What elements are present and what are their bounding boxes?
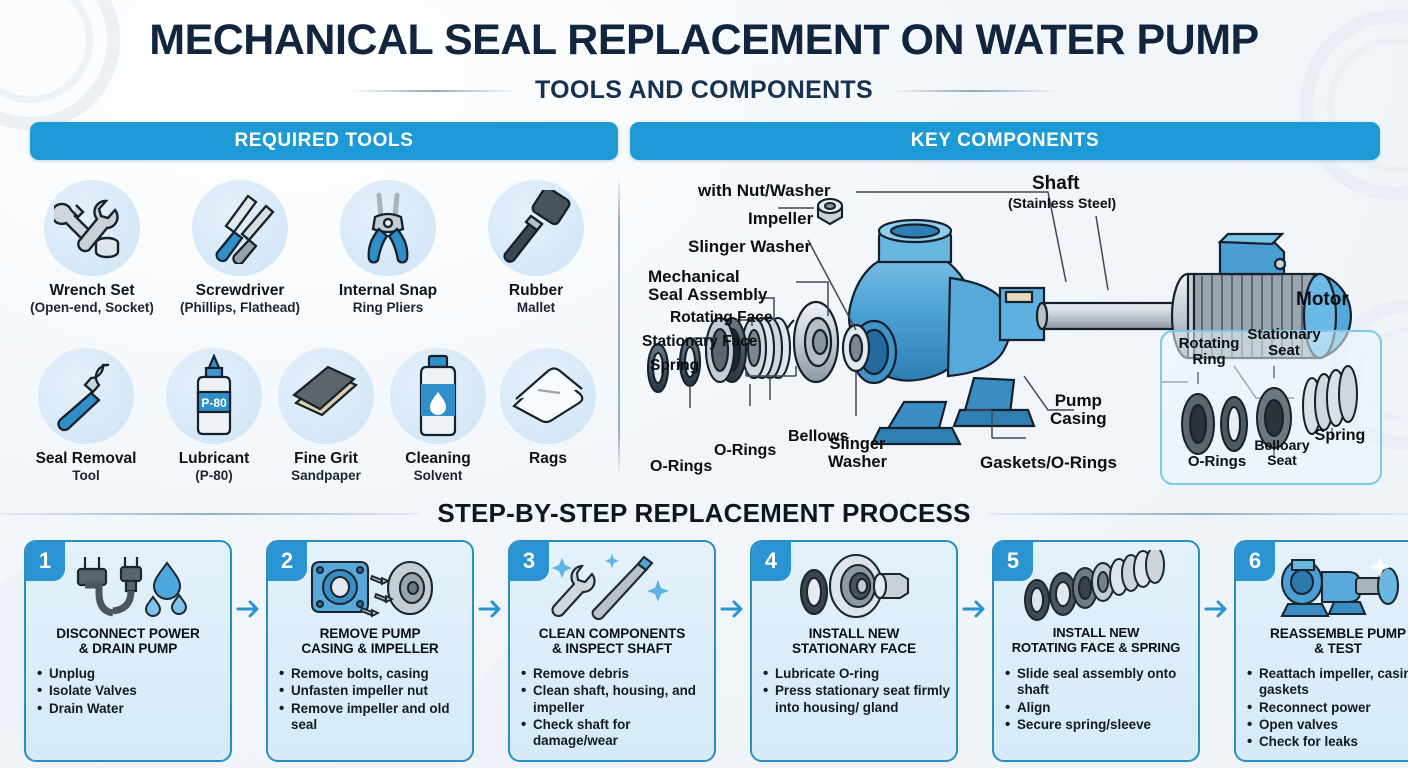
tool-sublabel: Tool [22, 468, 150, 483]
step-bullet: Check shaft for damage/wear [520, 717, 708, 750]
lubricant-bottle-text: P-80 [201, 396, 227, 410]
tool-rubber-mallet: Rubber Mallet [472, 180, 600, 315]
shaft-label: Shaft [1032, 174, 1080, 195]
step-bullet: Isolate Valves [36, 683, 224, 699]
tool-icon-circle [278, 348, 374, 444]
gaskets-o-rings-label: Gaskets/O-Rings [980, 454, 1117, 472]
tool-sublabel: (Open-end, Socket) [28, 300, 156, 315]
seal-removal-tool-icon [38, 348, 134, 444]
impeller-label: Impeller [748, 210, 813, 228]
step-card-4[interactable]: 4 INSTALL NEW STATIONARY FACE Lubricate … [750, 540, 958, 762]
tool-sublabel: (P-80) [150, 468, 278, 483]
tool-label: Lubricant [150, 450, 278, 467]
tool-sublabel: Solvent [374, 468, 502, 483]
tool-label: Seal Removal [22, 450, 150, 467]
spring-label: Spring [650, 358, 699, 375]
tool-sublabel: Mallet [472, 300, 600, 315]
steps-divider-right [989, 513, 1408, 515]
step-title: REMOVE PUMP CASING & IMPELLER [274, 626, 466, 656]
tool-sublabel: Ring Pliers [324, 300, 452, 315]
slinger-washer-label-2: Slinger Washer [828, 436, 887, 472]
step-title: DISCONNECT POWER & DRAIN PUMP [32, 626, 224, 656]
assembled-pump-icon [1236, 548, 1408, 624]
tool-label: Fine Grit [262, 450, 390, 467]
stationary-face-seat-icon [752, 548, 956, 624]
step-bullet: Remove debris [520, 666, 708, 682]
steps-title: STEP-BY-STEP REPLACEMENT PROCESS [437, 498, 970, 529]
step-bullet: Remove bolts, casing [278, 666, 466, 682]
tool-seal-removal-tool: Seal Removal Tool [22, 348, 150, 483]
divider-left [349, 90, 519, 92]
tool-icon-circle [44, 180, 140, 276]
lubricant-bottle-icon: P-80 [166, 348, 262, 444]
step-bullet: Open valves [1246, 717, 1408, 733]
step-bullet: Align [1004, 700, 1192, 716]
wrench-set-icon [44, 180, 140, 276]
step-bullet: Slide seal assembly onto shaft [1004, 666, 1192, 699]
step-arrow-5-6 [1204, 598, 1230, 620]
step-bullet: Remove impeller and old seal [278, 701, 466, 734]
section-header-required-tools: REQUIRED TOOLS [30, 122, 618, 160]
rotating-face-spring-icon [994, 548, 1198, 624]
inset-stationary-seat-label: Stationary Seat [1234, 327, 1334, 359]
tool-icon-circle [390, 348, 486, 444]
tool-icon-circle [192, 180, 288, 276]
step-arrow-4-5 [962, 598, 988, 620]
tool-icon-circle [38, 348, 134, 444]
sandpaper-icon [278, 348, 374, 444]
tool-snap-ring-pliers: Internal Snap Ring Pliers [324, 180, 452, 315]
step-title: INSTALL NEW STATIONARY FACE [758, 626, 950, 656]
step-bullet: Drain Water [36, 701, 224, 717]
section-header-key-components: KEY COMPONENTS [630, 122, 1380, 160]
subtitle-row: TOOLS AND COMPONENTS [0, 76, 1408, 105]
step-bullet: Press stationary seat firmly into housin… [762, 683, 950, 716]
step-bullet: Reconnect power [1246, 700, 1408, 716]
step-arrow-1-2 [236, 598, 262, 620]
mechanical-seal-assembly-label: Mechanical Seal Assembly [648, 268, 767, 305]
step-bullet: Check for leaks [1246, 734, 1408, 750]
step-bullet-list: Remove debris Clean shaft, housing, and … [520, 666, 708, 751]
step-arrow-3-4 [720, 598, 746, 620]
tool-label: Cleaning [374, 450, 502, 467]
vertical-divider [618, 176, 620, 476]
tool-label: Internal Snap [324, 282, 452, 299]
step-bullet: Reattach impeller, casing, gaskets [1246, 666, 1408, 699]
pump-casing-impeller-icon [268, 548, 472, 624]
divider-right [889, 90, 1059, 92]
inset-spring-label: Spring [1304, 428, 1376, 445]
screwdriver-icon [192, 180, 288, 276]
tool-sublabel: Sandpaper [262, 468, 390, 483]
step-card-2[interactable]: 2 REMOVE PUMP C [266, 540, 474, 762]
tool-cleaning-solvent: Cleaning Solvent [374, 348, 502, 483]
rotating-face-label: Rotating Face [670, 310, 772, 327]
tool-label: Rubber [472, 282, 600, 299]
with-nut-washer-label: with Nut/Washer [698, 182, 831, 200]
rubber-mallet-icon [488, 180, 584, 276]
step-bullet: Clean shaft, housing, and impeller [520, 683, 708, 716]
rags-icon [500, 348, 596, 444]
steps-divider-left [0, 513, 419, 515]
page-title: MECHANICAL SEAL REPLACEMENT ON WATER PUM… [0, 16, 1408, 65]
step-title: CLEAN COMPONENTS & INSPECT SHAFT [516, 626, 708, 656]
step-bullet-list: Unplug Isolate Valves Drain Water [36, 666, 224, 718]
tool-icon-circle [488, 180, 584, 276]
tool-icon-circle [340, 180, 436, 276]
step-arrow-2-3 [478, 598, 504, 620]
step-bullet: Lubricate O-ring [762, 666, 950, 682]
stationary-face-label: Stationary Face [642, 334, 757, 351]
tool-label: Screwdriver [176, 282, 304, 299]
infographic-root: MECHANICAL SEAL REPLACEMENT ON WATER PUM… [0, 0, 1408, 768]
cleaning-tools-icon [510, 548, 714, 624]
step-bullet-list: Lubricate O-ring Press stationary seat f… [762, 666, 950, 717]
step-bullet: Unplug [36, 666, 224, 682]
tool-sublabel: (Phillips, Flathead) [176, 300, 304, 315]
step-bullet: Unfasten impeller nut [278, 683, 466, 699]
motor-label: Motor [1296, 290, 1349, 311]
solvent-bottle-icon [390, 348, 486, 444]
step-title: INSTALL NEW ROTATING FACE & SPRING [1000, 626, 1192, 655]
step-bullet-list: Remove bolts, casing Unfasten impeller n… [278, 666, 466, 734]
power-plug-water-drops-icon [26, 548, 230, 624]
step-title: REASSEMBLE PUMP & TEST [1242, 626, 1408, 656]
step-card-6[interactable]: 6 REASSEMBLE PUMP & TEST R [1234, 540, 1408, 762]
tool-screwdriver: Screwdriver (Phillips, Flathead) [176, 180, 304, 315]
steps-section-header: STEP-BY-STEP REPLACEMENT PROCESS [0, 498, 1408, 529]
step-card-1[interactable]: 1 DISCONNECT POWER & DRAIN [24, 540, 232, 762]
tool-icon-circle: P-80 [166, 348, 262, 444]
step-bullet-list: Slide seal assembly onto shaft Align Sec… [1004, 666, 1192, 734]
o-rings-label-left: O-Rings [650, 458, 712, 475]
o-rings-label-mid: O-Rings [714, 442, 776, 459]
step-card-3[interactable]: 3 CLEAN COMPONENTS & INSPECT SHAFT Remov… [508, 540, 716, 762]
tool-wrench-set: Wrench Set (Open-end, Socket) [28, 180, 156, 315]
step-bullet-list: Reattach impeller, casing, gaskets Recon… [1246, 666, 1408, 752]
tool-rags: Rags [484, 348, 612, 468]
step-card-5[interactable]: 5 INSTALL NEW ROTATING [992, 540, 1200, 762]
pump-casing-label: Pump Casing [1050, 392, 1107, 429]
tool-sandpaper: Fine Grit Sandpaper [262, 348, 390, 483]
step-bullet: Secure spring/sleeve [1004, 717, 1192, 733]
slinger-washer-label: Slinger Washer [688, 238, 811, 256]
tool-label: Rags [484, 450, 612, 467]
tool-icon-circle [500, 348, 596, 444]
tool-label: Wrench Set [28, 282, 156, 299]
shaft-sublabel: (Stainless Steel) [1008, 196, 1116, 211]
seal-kit-inset: Rotating Ring Stationary Seat O-Rings Be… [1160, 330, 1382, 485]
snap-ring-pliers-icon [340, 180, 436, 276]
page-subtitle: TOOLS AND COMPONENTS [535, 76, 873, 105]
tool-lubricant: P-80 Lubricant (P-80) [150, 348, 278, 483]
